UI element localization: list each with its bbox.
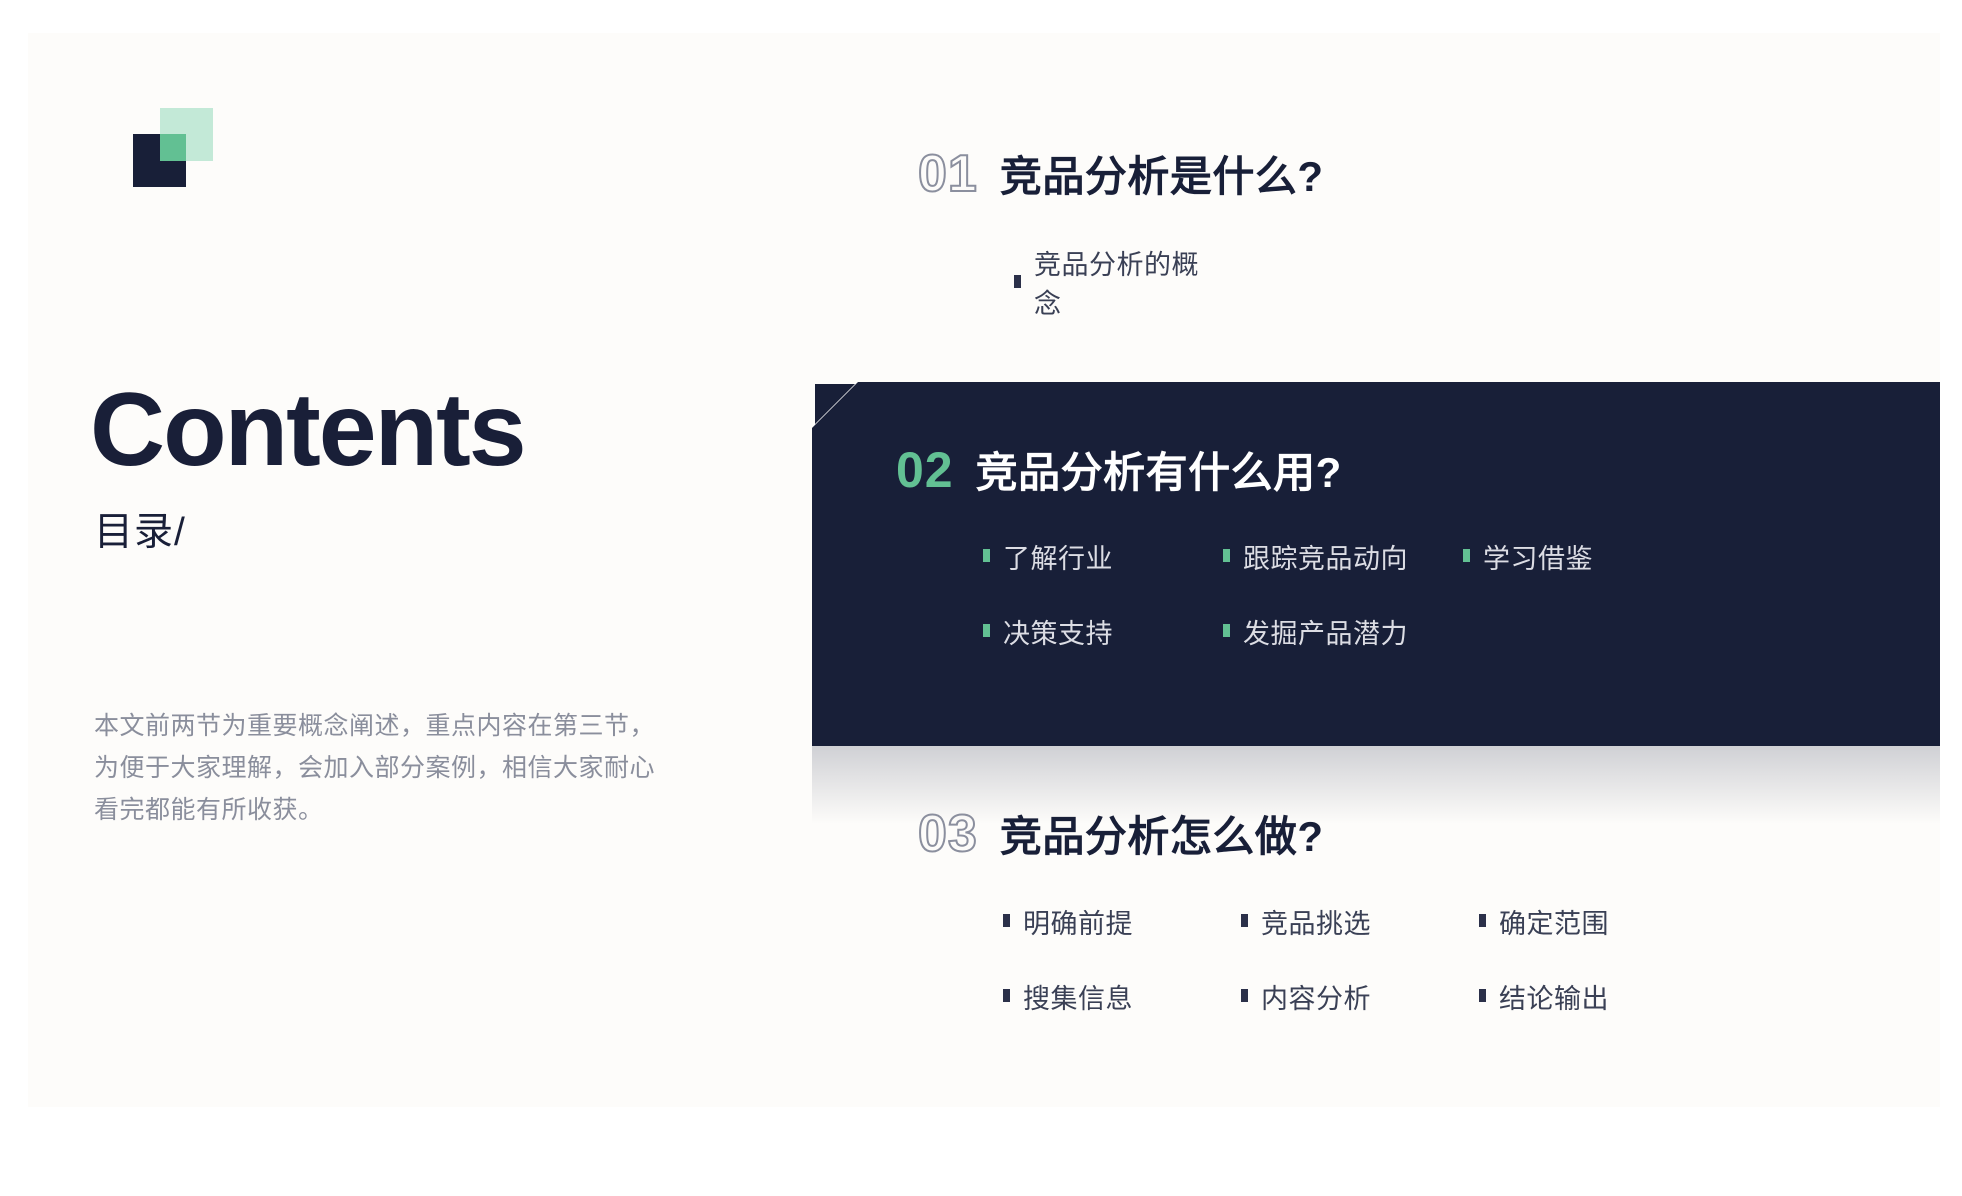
left-column: Contents 目录/ 本文前两节为重要概念阐述，重点内容在第三节，为便于大家… [90, 33, 750, 1107]
list-item[interactable]: 了解行业 [983, 537, 1223, 576]
list-item-text: 结论输出 [1499, 977, 1609, 1016]
list-item-text: 了解行业 [1003, 537, 1113, 576]
bullet-square-icon [1479, 989, 1486, 1002]
list-item-text: 搜集信息 [1023, 977, 1133, 1016]
section-03-title: 竞品分析怎么做? [1000, 816, 1324, 858]
bullet-square-icon [983, 624, 990, 637]
list-item-text: 发掘产品潜力 [1243, 612, 1408, 651]
list-item-text: 明确前提 [1023, 902, 1133, 941]
bullet-square-icon [1003, 989, 1010, 1002]
bullet-square-icon [1241, 989, 1248, 1002]
bullet-square-icon [1241, 914, 1248, 927]
bullet-square-icon [1223, 624, 1230, 637]
section-01-number: 01 [918, 148, 978, 200]
list-item-text: 内容分析 [1261, 977, 1371, 1016]
bullet-square-icon [1479, 914, 1486, 927]
list-item[interactable]: 学习借鉴 [1463, 537, 1703, 576]
bullet-square-icon [1014, 275, 1021, 288]
list-item[interactable]: 发掘产品潜力 [1223, 612, 1463, 651]
list-item-text: 竞品分析的概念 [1034, 243, 1210, 321]
list-item[interactable]: 明确前提 [1003, 902, 1241, 941]
bullet-square-icon [1223, 549, 1230, 562]
page-description: 本文前两节为重要概念阐述，重点内容在第三节，为便于大家理解，会加入部分案例，相信… [94, 705, 674, 831]
section-02-number: 02 [896, 445, 954, 495]
list-item[interactable]: 竞品分析的概念 [1014, 243, 1210, 321]
section-03-header: 03 竞品分析怎么做? [918, 808, 1940, 860]
section-02[interactable]: 02 竞品分析有什么用? 了解行业 跟踪竞品动向 学习借鉴 决策支持 发 [896, 445, 1940, 687]
list-item[interactable]: 竞品挑选 [1241, 902, 1479, 941]
list-item[interactable]: 跟踪竞品动向 [1223, 537, 1463, 576]
section-02-items: 了解行业 跟踪竞品动向 学习借鉴 决策支持 发掘产品潜力 [983, 537, 1940, 687]
list-item[interactable]: 内容分析 [1241, 977, 1479, 1016]
list-item-text: 学习借鉴 [1483, 537, 1593, 576]
list-item[interactable]: 决策支持 [983, 612, 1223, 651]
slide-canvas: Contents 目录/ 本文前两节为重要概念阐述，重点内容在第三节，为便于大家… [28, 33, 1940, 1107]
section-02-title: 竞品分析有什么用? [976, 452, 1342, 494]
list-item[interactable]: 结论输出 [1479, 977, 1717, 1016]
bullet-square-icon [1003, 914, 1010, 927]
section-03-items: 明确前提 竞品挑选 确定范围 搜集信息 内容分析 结论输出 [1003, 902, 1940, 1052]
page-subtitle: 目录/ [94, 501, 186, 557]
section-02-header: 02 竞品分析有什么用? [896, 445, 1940, 495]
section-03[interactable]: 03 竞品分析怎么做? 明确前提 竞品挑选 确定范围 搜集信息 内容分析 [918, 808, 1940, 1052]
list-item[interactable]: 搜集信息 [1003, 977, 1241, 1016]
page-title: Contents [90, 378, 525, 482]
section-01[interactable]: 01 竞品分析是什么? 竞品分析的概念 [918, 148, 1324, 357]
list-item-text: 确定范围 [1499, 902, 1609, 941]
section-01-header: 01 竞品分析是什么? [918, 148, 1324, 200]
section-01-title: 竞品分析是什么? [1000, 156, 1324, 198]
list-item-text: 竞品挑选 [1261, 902, 1371, 941]
list-item-text: 决策支持 [1003, 612, 1113, 651]
list-item[interactable]: 确定范围 [1479, 902, 1717, 941]
section-03-number: 03 [918, 808, 978, 860]
list-item-text: 跟踪竞品动向 [1243, 537, 1408, 576]
bullet-square-icon [1463, 549, 1470, 562]
section-01-items: 竞品分析的概念 [1014, 243, 1324, 357]
bullet-square-icon [983, 549, 990, 562]
